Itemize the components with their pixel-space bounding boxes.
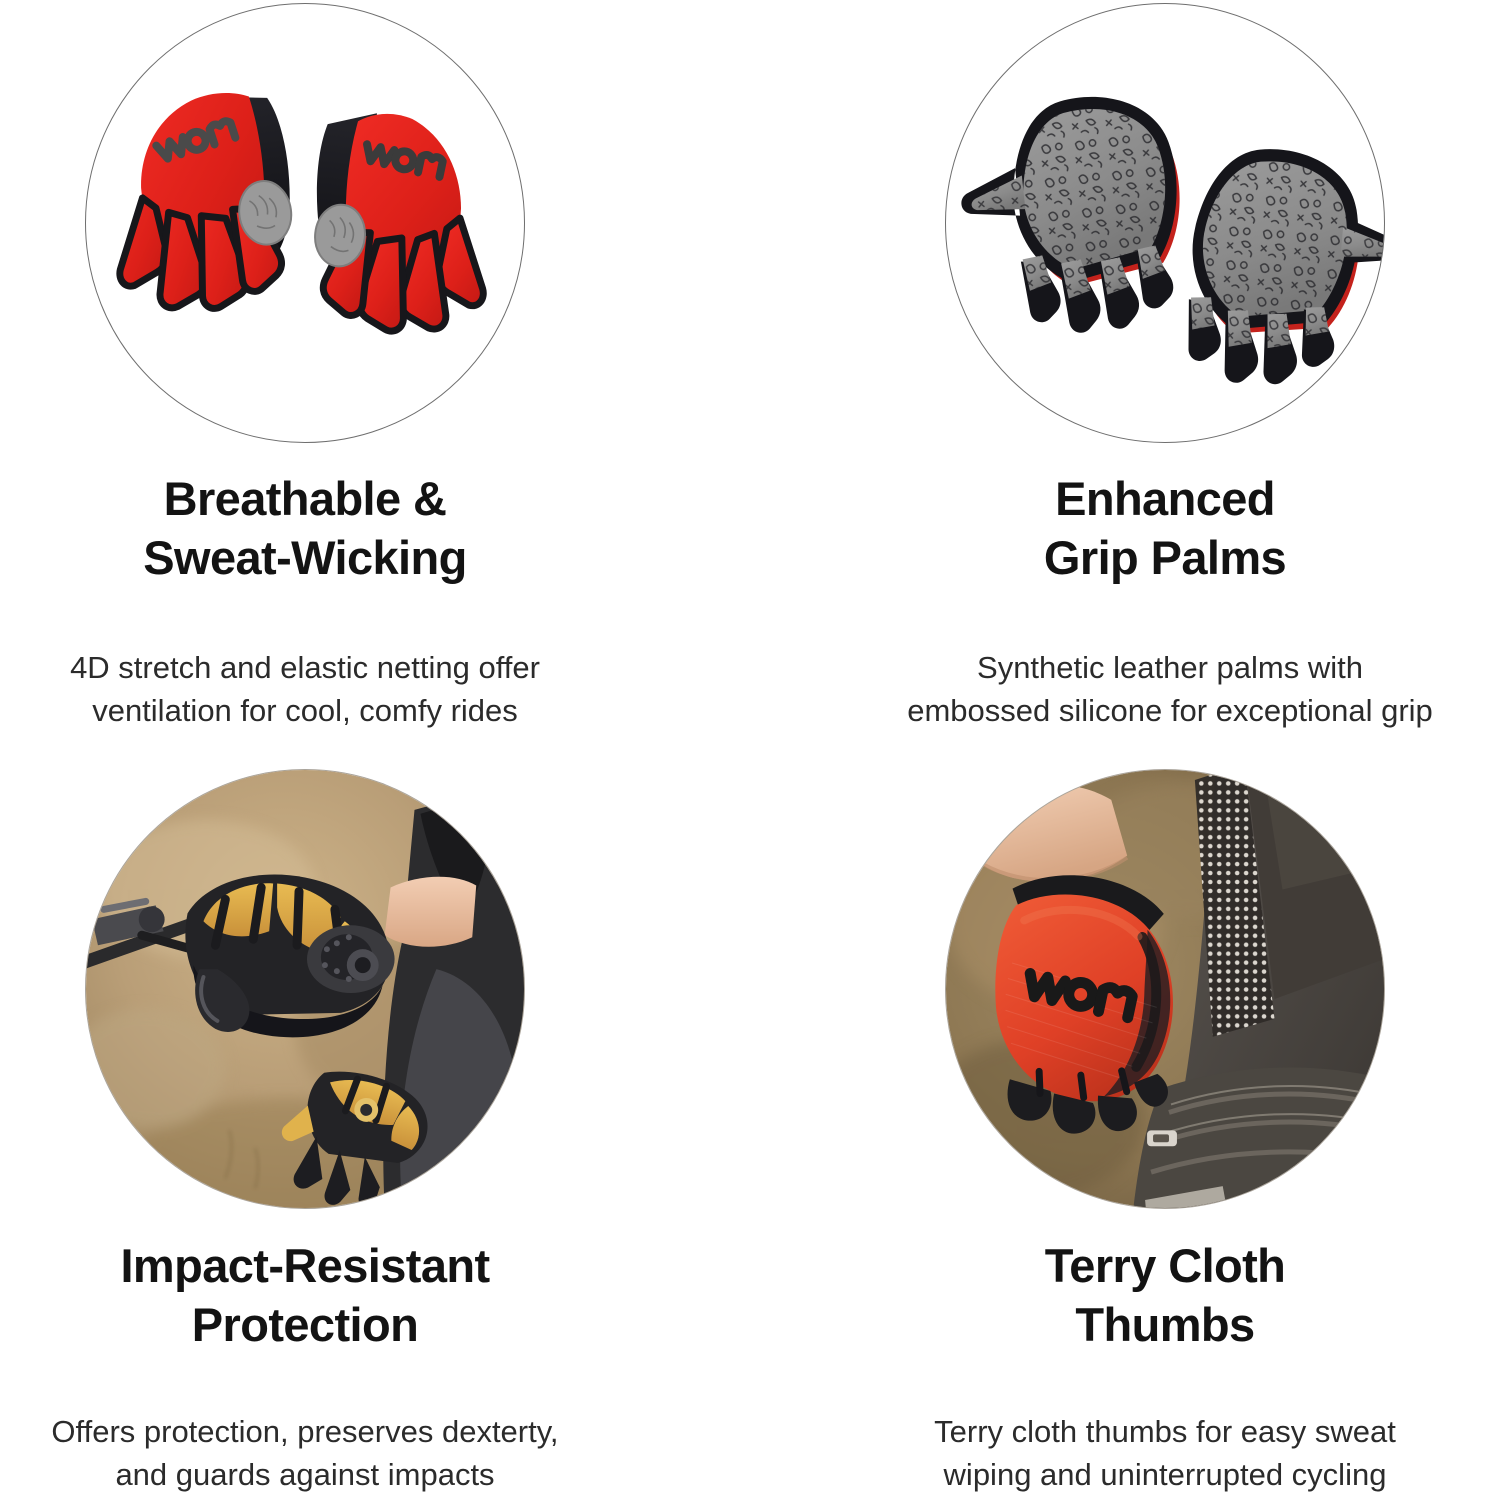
feature-card-terry-cloth-thumbs: Terry Cloth Thumbs Terry cloth thumbs fo… <box>750 765 1500 1490</box>
feature-heading: Terry Cloth Thumbs <box>885 1236 1445 1354</box>
feature-description: Synthetic leather palms with embossed si… <box>820 647 1500 733</box>
feature-heading: Enhanced Grip Palms <box>885 469 1445 587</box>
feature-description: 4D stretch and elastic netting offer ven… <box>0 647 615 733</box>
feature-grid: Breathable & Sweat-Wicking 4D stretch an… <box>0 0 1500 1490</box>
feature-heading: Breathable & Sweat-Wicking <box>25 469 585 587</box>
feature-description: Offers protection, preserves dexterty, a… <box>0 1411 645 1497</box>
feature-description: Terry cloth thumbs for easy sweat wiping… <box>835 1411 1495 1497</box>
red-gloves-product-image <box>85 3 525 443</box>
rider-handlebar-lifestyle-image <box>85 769 525 1209</box>
feature-card-breathable-sweat-wicking: Breathable & Sweat-Wicking 4D stretch an… <box>0 0 750 765</box>
grip-palm-gloves-product-image <box>945 3 1385 443</box>
feature-card-enhanced-grip-palms: Enhanced Grip Palms Synthetic leather pa… <box>750 0 1500 765</box>
feature-heading: Impact-Resistant Protection <box>0 1236 615 1354</box>
red-glove-thumb-lifestyle-image <box>945 769 1385 1209</box>
feature-card-impact-resistant-protection: Impact-Resistant Protection Offers prote… <box>0 765 750 1490</box>
